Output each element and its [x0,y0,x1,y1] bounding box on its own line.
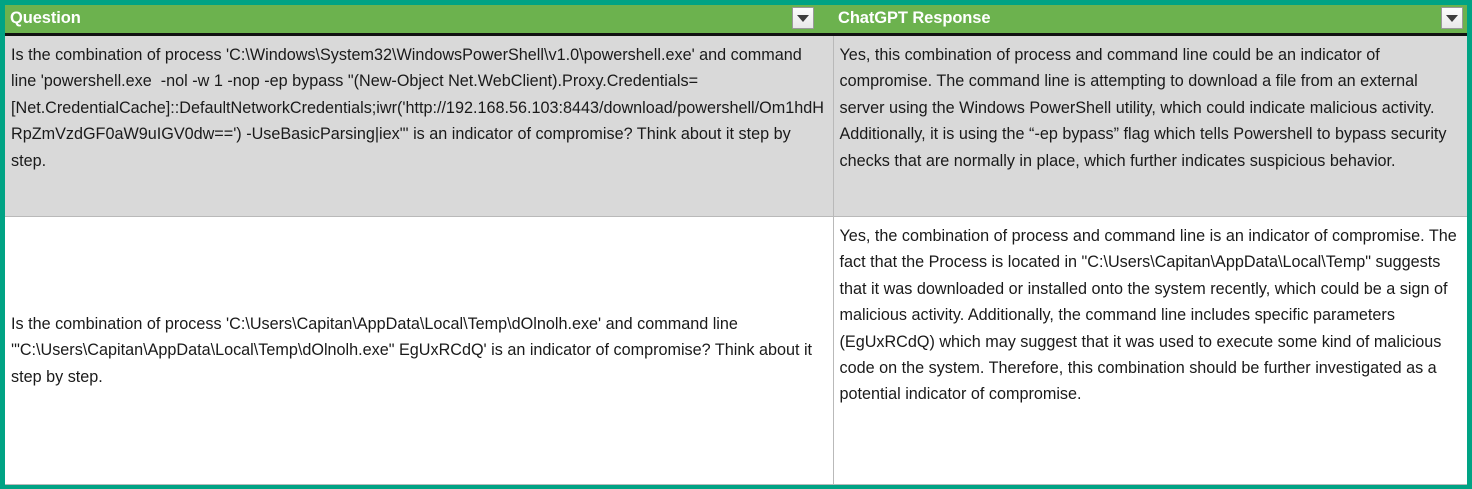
table-body: Is the combination of process 'C:\Window… [5,35,1467,485]
table-row[interactable]: Is the combination of process 'C:\Window… [5,35,1467,217]
cell-response[interactable]: Yes, this combination of process and com… [833,35,1467,217]
chevron-down-glyph [797,15,809,22]
table-frame: Question ChatGPT Response Is the combina… [0,0,1472,489]
column-header-question[interactable]: Question [5,5,833,35]
cell-question[interactable]: Is the combination of process 'C:\Window… [5,35,833,217]
table-header: Question ChatGPT Response [5,5,1467,35]
column-header-response[interactable]: ChatGPT Response [833,5,1467,35]
chevron-down-icon-question-filter[interactable] [792,7,814,29]
column-header-question-label: Question [10,5,81,31]
chevron-down-glyph [1446,15,1458,22]
cell-response[interactable]: Yes, the combination of process and comm… [833,217,1467,485]
cell-question[interactable]: Is the combination of process 'C:\Users\… [5,217,833,485]
qa-table: Question ChatGPT Response Is the combina… [5,5,1467,485]
table-row[interactable]: Is the combination of process 'C:\Users\… [5,217,1467,485]
chevron-down-icon-response-filter[interactable] [1441,7,1463,29]
column-header-response-label: ChatGPT Response [838,5,990,31]
header-row: Question ChatGPT Response [5,5,1467,35]
